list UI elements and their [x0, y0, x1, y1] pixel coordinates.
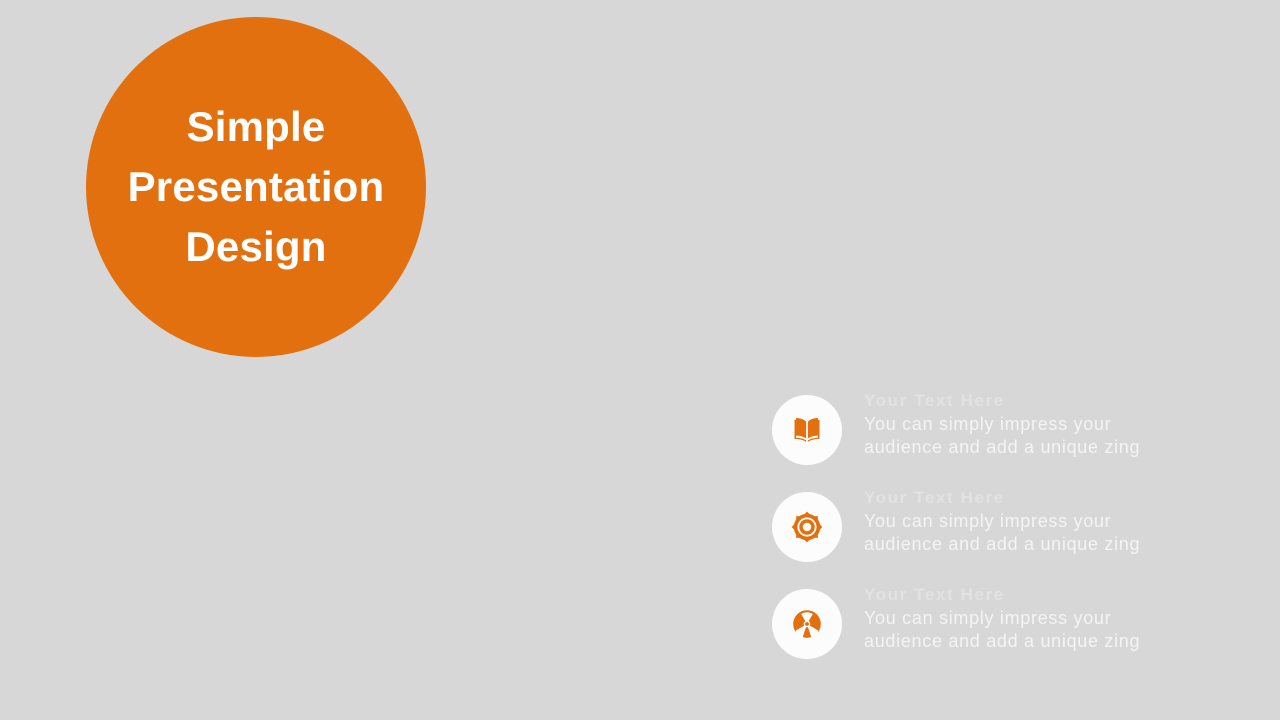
gear-icon	[790, 510, 824, 544]
title-line-3: Design	[185, 217, 326, 277]
feature-item[interactable]: Your Text Here You can simply impress yo…	[772, 578, 1192, 670]
feature-heading: Your Text Here	[864, 391, 1192, 411]
feature-item[interactable]: Your Text Here You can simply impress yo…	[772, 481, 1192, 573]
title-line-2: Presentation	[128, 157, 385, 217]
feature-icon-badge[interactable]	[772, 395, 842, 465]
feature-body: You can simply impress your audience and…	[864, 510, 1174, 558]
feature-icon-badge[interactable]	[772, 589, 842, 659]
title-line-1: Simple	[187, 97, 326, 157]
title-circle: Simple Presentation Design	[86, 17, 426, 357]
feature-text-block: Your Text Here You can simply impress yo…	[864, 481, 1192, 557]
feature-text-block: Your Text Here You can simply impress yo…	[864, 384, 1192, 460]
feature-heading: Your Text Here	[864, 585, 1192, 605]
feature-body: You can simply impress your audience and…	[864, 607, 1174, 655]
feature-text-block: Your Text Here You can simply impress yo…	[864, 578, 1192, 654]
radiation-icon	[790, 607, 824, 641]
feature-list: Your Text Here You can simply impress yo…	[772, 384, 1192, 675]
feature-icon-badge[interactable]	[772, 492, 842, 562]
open-book-icon	[790, 413, 824, 447]
feature-heading: Your Text Here	[864, 488, 1192, 508]
feature-body: You can simply impress your audience and…	[864, 413, 1174, 461]
feature-item[interactable]: Your Text Here You can simply impress yo…	[772, 384, 1192, 476]
